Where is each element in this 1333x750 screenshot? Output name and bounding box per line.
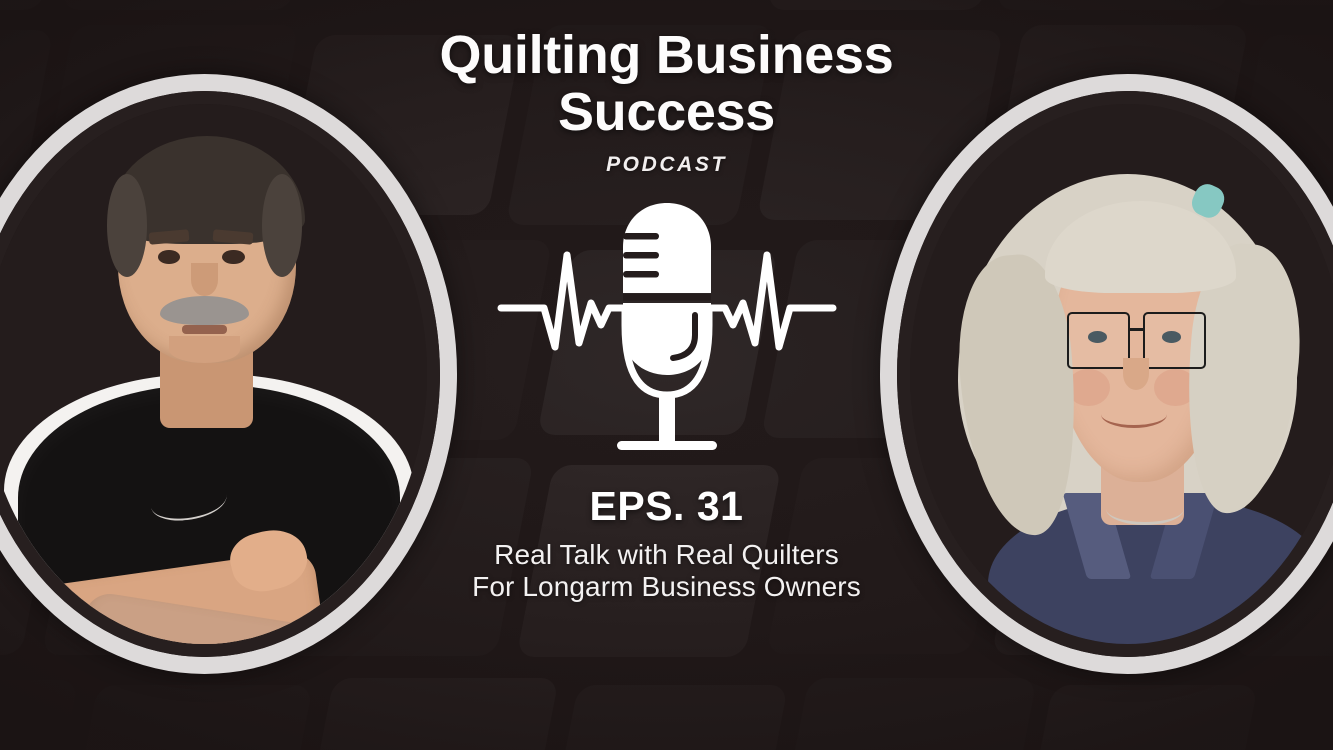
episode-number: EPS. 31 xyxy=(472,483,861,530)
episode-block: EPS. 31 Real Talk with Real Quilters For… xyxy=(472,483,861,602)
photo-disc-right xyxy=(910,104,1333,644)
podcast-title-line1: Quilting Business xyxy=(440,25,894,85)
podcast-label: PODCAST xyxy=(606,153,727,177)
microphone-icon xyxy=(497,195,837,475)
center-content: Quilting Business Success PODCAST xyxy=(407,0,927,750)
episode-subtitle-line1: Real Talk with Real Quilters xyxy=(472,539,861,570)
podcast-title-line2: Success xyxy=(432,84,902,141)
photo-disc-left xyxy=(0,104,427,644)
podcast-title: Quilting Business Success xyxy=(432,27,902,141)
podcast-cover: Quilting Business Success PODCAST xyxy=(0,0,1333,750)
episode-subtitle-line2: For Longarm Business Owners xyxy=(472,571,861,602)
